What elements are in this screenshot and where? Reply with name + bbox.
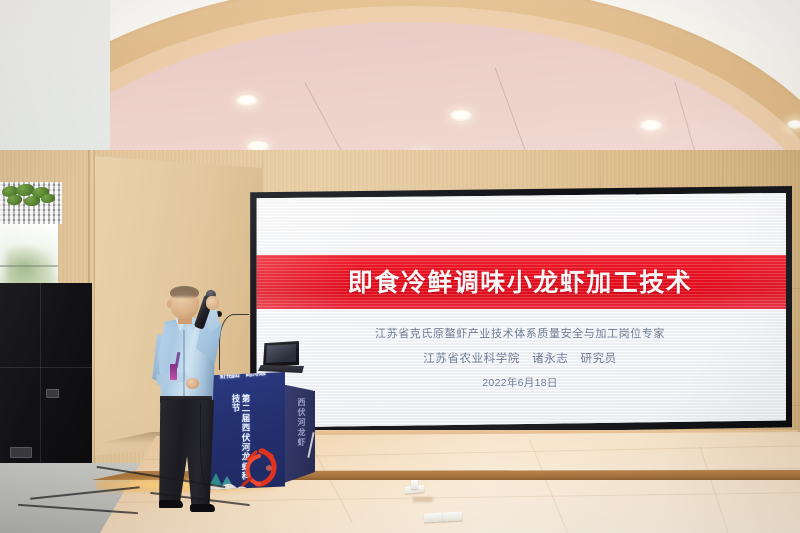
downlight xyxy=(450,110,472,121)
plant-leaf-icon xyxy=(7,195,22,205)
floor-prop-upright xyxy=(411,480,418,489)
floor-plank-line xyxy=(530,440,568,533)
event-logo: 虾抱团 跑得通 xyxy=(214,372,272,394)
case-handle-icon xyxy=(10,447,32,458)
presenter-shoe xyxy=(190,504,215,512)
equipment-case xyxy=(0,283,92,473)
laptop-screen[interactable] xyxy=(266,344,296,363)
slide-subtitle-block: 江苏省克氏原螯虾产业技术体系质量安全与加工岗位专家 江苏省农业科学院 诸永志 研… xyxy=(254,325,786,390)
case-latch-icon xyxy=(46,389,59,398)
presenter-left-hand xyxy=(186,378,199,389)
crayfish-graphic-icon xyxy=(239,448,281,488)
presenter-hair xyxy=(170,286,199,299)
downlight xyxy=(640,120,662,131)
slide-date: 2022年6月18日 xyxy=(482,375,557,390)
window-mullion xyxy=(0,265,58,267)
presenter-ear xyxy=(167,300,172,308)
presenter-shoe xyxy=(159,500,183,508)
presenter-badge xyxy=(170,364,177,380)
plant-leaf-icon xyxy=(41,194,55,203)
slide-title: 即食冷鲜调味小龙虾加工技术 xyxy=(254,262,786,300)
lectern-side-panel: 西伏河龙虾 xyxy=(281,384,315,484)
downlight xyxy=(236,95,258,106)
lectern-side-text: 西伏河龙虾 xyxy=(290,398,306,448)
gooseneck-microphone xyxy=(219,314,249,370)
presentation-slide: 即食冷鲜调味小龙虾加工技术 江苏省克氏原螯虾产业技术体系质量安全与加工岗位专家 … xyxy=(254,192,786,430)
presenter-right-hand xyxy=(206,296,219,310)
slide-subtitle-line-1: 江苏省克氏原螯虾产业技术体系质量安全与加工岗位专家 xyxy=(375,325,665,341)
plant-leaf-icon xyxy=(24,196,40,206)
led-screen[interactable]: 即食冷鲜调味小龙虾加工技术 江苏省克氏原螯虾产业技术体系质量安全与加工岗位专家 … xyxy=(254,192,786,430)
ceiling-grid-panel xyxy=(0,182,62,224)
prop-shadow xyxy=(413,497,433,502)
downlight xyxy=(787,120,800,129)
case-edge xyxy=(40,283,41,473)
floor-plank-line xyxy=(700,446,729,532)
presenter-shirt-placket xyxy=(183,330,185,398)
floor-prop-card xyxy=(424,512,445,522)
floor-prop-card xyxy=(443,512,462,522)
case-edge xyxy=(0,367,92,368)
slide-subtitle-line-2: 江苏省农业科学院 诸永志 研究员 xyxy=(423,350,617,366)
presentation-photo-scene: 即食冷鲜调味小龙虾加工技术 江苏省克氏原螯虾产业技术体系质量安全与加工岗位专家 … xyxy=(0,0,800,533)
